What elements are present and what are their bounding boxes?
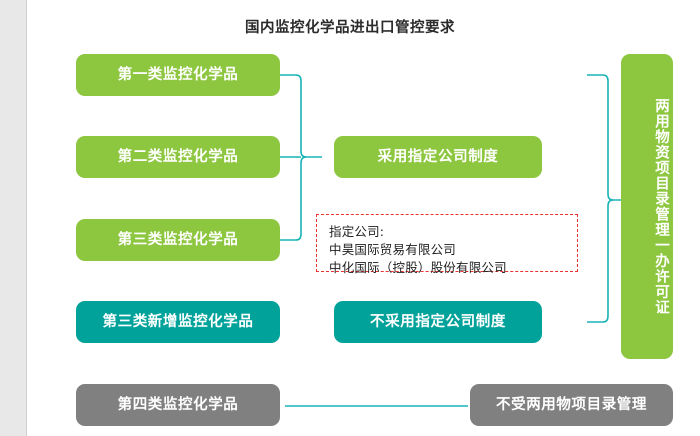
node-label: 第二类监控化学品 bbox=[118, 148, 239, 166]
node-category-1[interactable]: 第一类监控化学品 bbox=[76, 54, 280, 96]
node-label: 采用指定公司制度 bbox=[378, 148, 499, 166]
node-not-subject-to-dual-use-catalog[interactable]: 不受两用物项目录管理 bbox=[470, 384, 673, 426]
node-category-2[interactable]: 第二类监控化学品 bbox=[76, 136, 280, 178]
node-adopt-designated-company-system[interactable]: 采用指定公司制度 bbox=[334, 136, 542, 178]
node-label: 第三类监控化学品 bbox=[118, 231, 239, 249]
designated-companies-note: 指定公司: 中昊国际贸易有限公司 中化国际（控股）股份有限公司 bbox=[316, 214, 578, 272]
connector-left-bracket bbox=[280, 75, 322, 157]
node-label-vertical: 两用物资项目录管理一办许可证 bbox=[625, 98, 669, 315]
node-category-4[interactable]: 第四类监控化学品 bbox=[76, 384, 280, 426]
left-gutter-strip bbox=[0, 0, 27, 436]
node-label: 第三类新增监控化学品 bbox=[103, 313, 254, 331]
node-label: 第一类监控化学品 bbox=[118, 66, 239, 84]
connector-right-bracket-top bbox=[587, 75, 622, 200]
note-company-2: 中化国际（控股）股份有限公司 bbox=[329, 259, 567, 277]
node-category-3[interactable]: 第三类监控化学品 bbox=[76, 219, 280, 261]
connector-right-bracket-bottom bbox=[587, 200, 613, 322]
note-heading: 指定公司: bbox=[329, 223, 567, 241]
note-company-1: 中昊国际贸易有限公司 bbox=[329, 241, 567, 259]
node-dual-use-license-management[interactable]: 两用物资项目录管理一办许可证 bbox=[621, 54, 673, 359]
node-not-adopt-designated-company-system[interactable]: 不采用指定公司制度 bbox=[334, 301, 542, 343]
diagram-canvas: 国内监控化学品进出口管控要求 第一类监控化学品 第二类监控化学品 第三类监控化学… bbox=[0, 0, 700, 436]
node-label: 第四类监控化学品 bbox=[118, 396, 239, 414]
node-label: 不采用指定公司制度 bbox=[370, 313, 506, 331]
connector-left-bracket-lower bbox=[280, 157, 306, 240]
page-title: 国内监控化学品进出口管控要求 bbox=[0, 16, 700, 37]
node-category-3-new[interactable]: 第三类新增监控化学品 bbox=[76, 301, 280, 343]
node-label: 不受两用物项目录管理 bbox=[496, 396, 647, 414]
